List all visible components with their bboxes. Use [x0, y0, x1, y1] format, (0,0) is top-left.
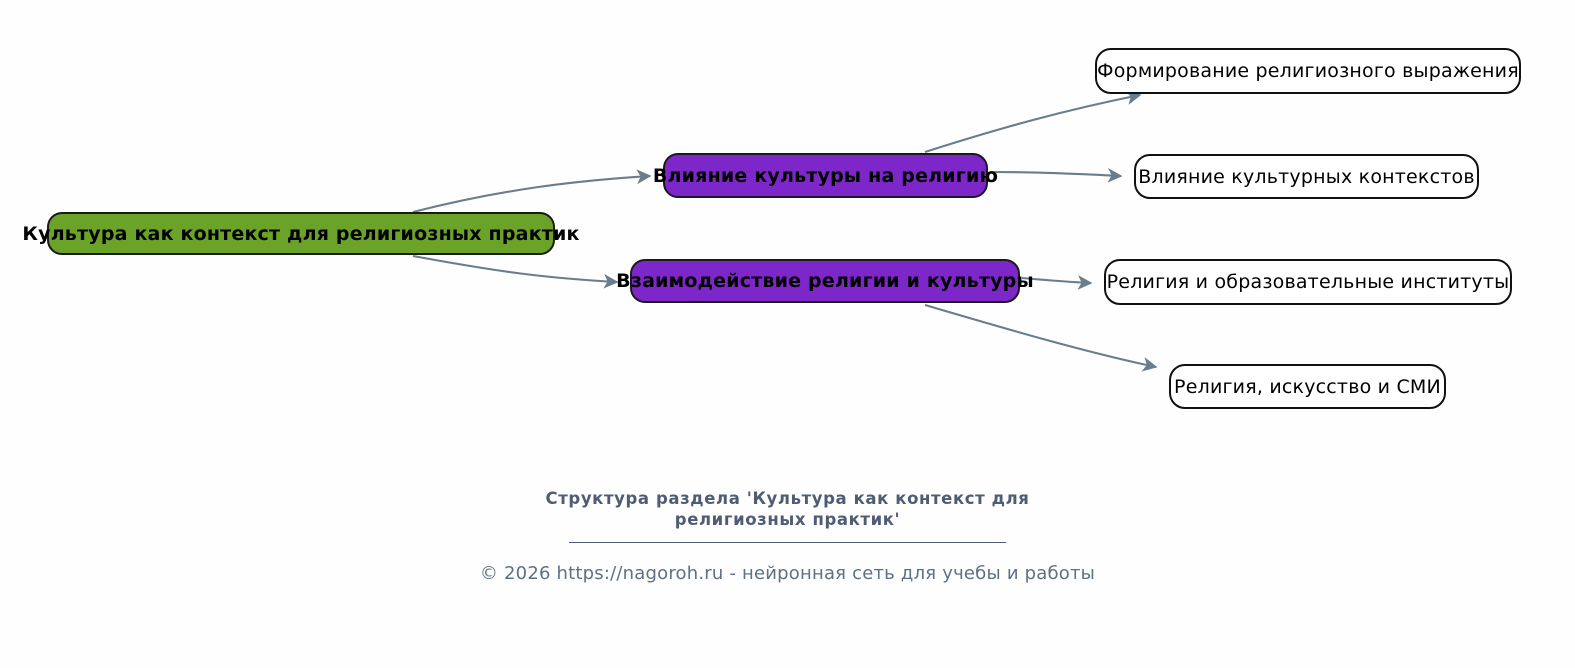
- mindmap-node-branch-2-label: Взаимодействие религии и культуры: [616, 270, 1034, 292]
- mindmap-node-leaf-1[interactable]: Формирование религиозного выражения: [1095, 48, 1521, 94]
- diagram-title: Структура раздела 'Культура как контекст…: [508, 488, 1068, 530]
- edge-root-branch2: [413, 256, 617, 282]
- diagram-title-line-1: Структура раздела 'Культура как контекст…: [546, 489, 1030, 508]
- mindmap-node-leaf-4[interactable]: Религия, искусство и СМИ: [1169, 364, 1446, 409]
- edge-root-branch1: [413, 176, 650, 212]
- mindmap-node-leaf-2-label: Влияние культурных контекстов: [1138, 166, 1475, 188]
- edge-branch2-leaf4: [925, 305, 1156, 367]
- diagram-title-line-2: религиозных практик': [675, 510, 900, 529]
- caption-divider: [569, 542, 1006, 543]
- mindmap-node-root[interactable]: Культура как контекст для религиозных пр…: [47, 212, 555, 255]
- mindmap-canvas: Культура как контекст для религиозных пр…: [0, 0, 1575, 668]
- mindmap-node-leaf-3[interactable]: Религия и образовательные институты: [1104, 259, 1512, 305]
- mindmap-node-branch-1[interactable]: Влияние культуры на религию: [663, 153, 988, 198]
- mindmap-node-branch-2[interactable]: Взаимодействие религии и культуры: [630, 259, 1020, 303]
- copyright-text: © 2026 https://nagoroh.ru - нейронная се…: [0, 563, 1575, 584]
- mindmap-node-leaf-2[interactable]: Влияние культурных контекстов: [1134, 154, 1479, 199]
- mindmap-node-leaf-1-label: Формирование религиозного выражения: [1097, 60, 1519, 82]
- caption-block: Структура раздела 'Культура как контекст…: [0, 488, 1575, 584]
- edge-branch1-leaf2: [990, 172, 1121, 176]
- mindmap-node-leaf-4-label: Религия, искусство и СМИ: [1174, 376, 1441, 398]
- edge-branch1-leaf1: [925, 95, 1140, 152]
- mindmap-node-root-label: Культура как контекст для религиозных пр…: [22, 223, 579, 245]
- mindmap-node-branch-1-label: Влияние культуры на религию: [653, 165, 998, 187]
- mindmap-node-leaf-3-label: Религия и образовательные институты: [1107, 271, 1510, 293]
